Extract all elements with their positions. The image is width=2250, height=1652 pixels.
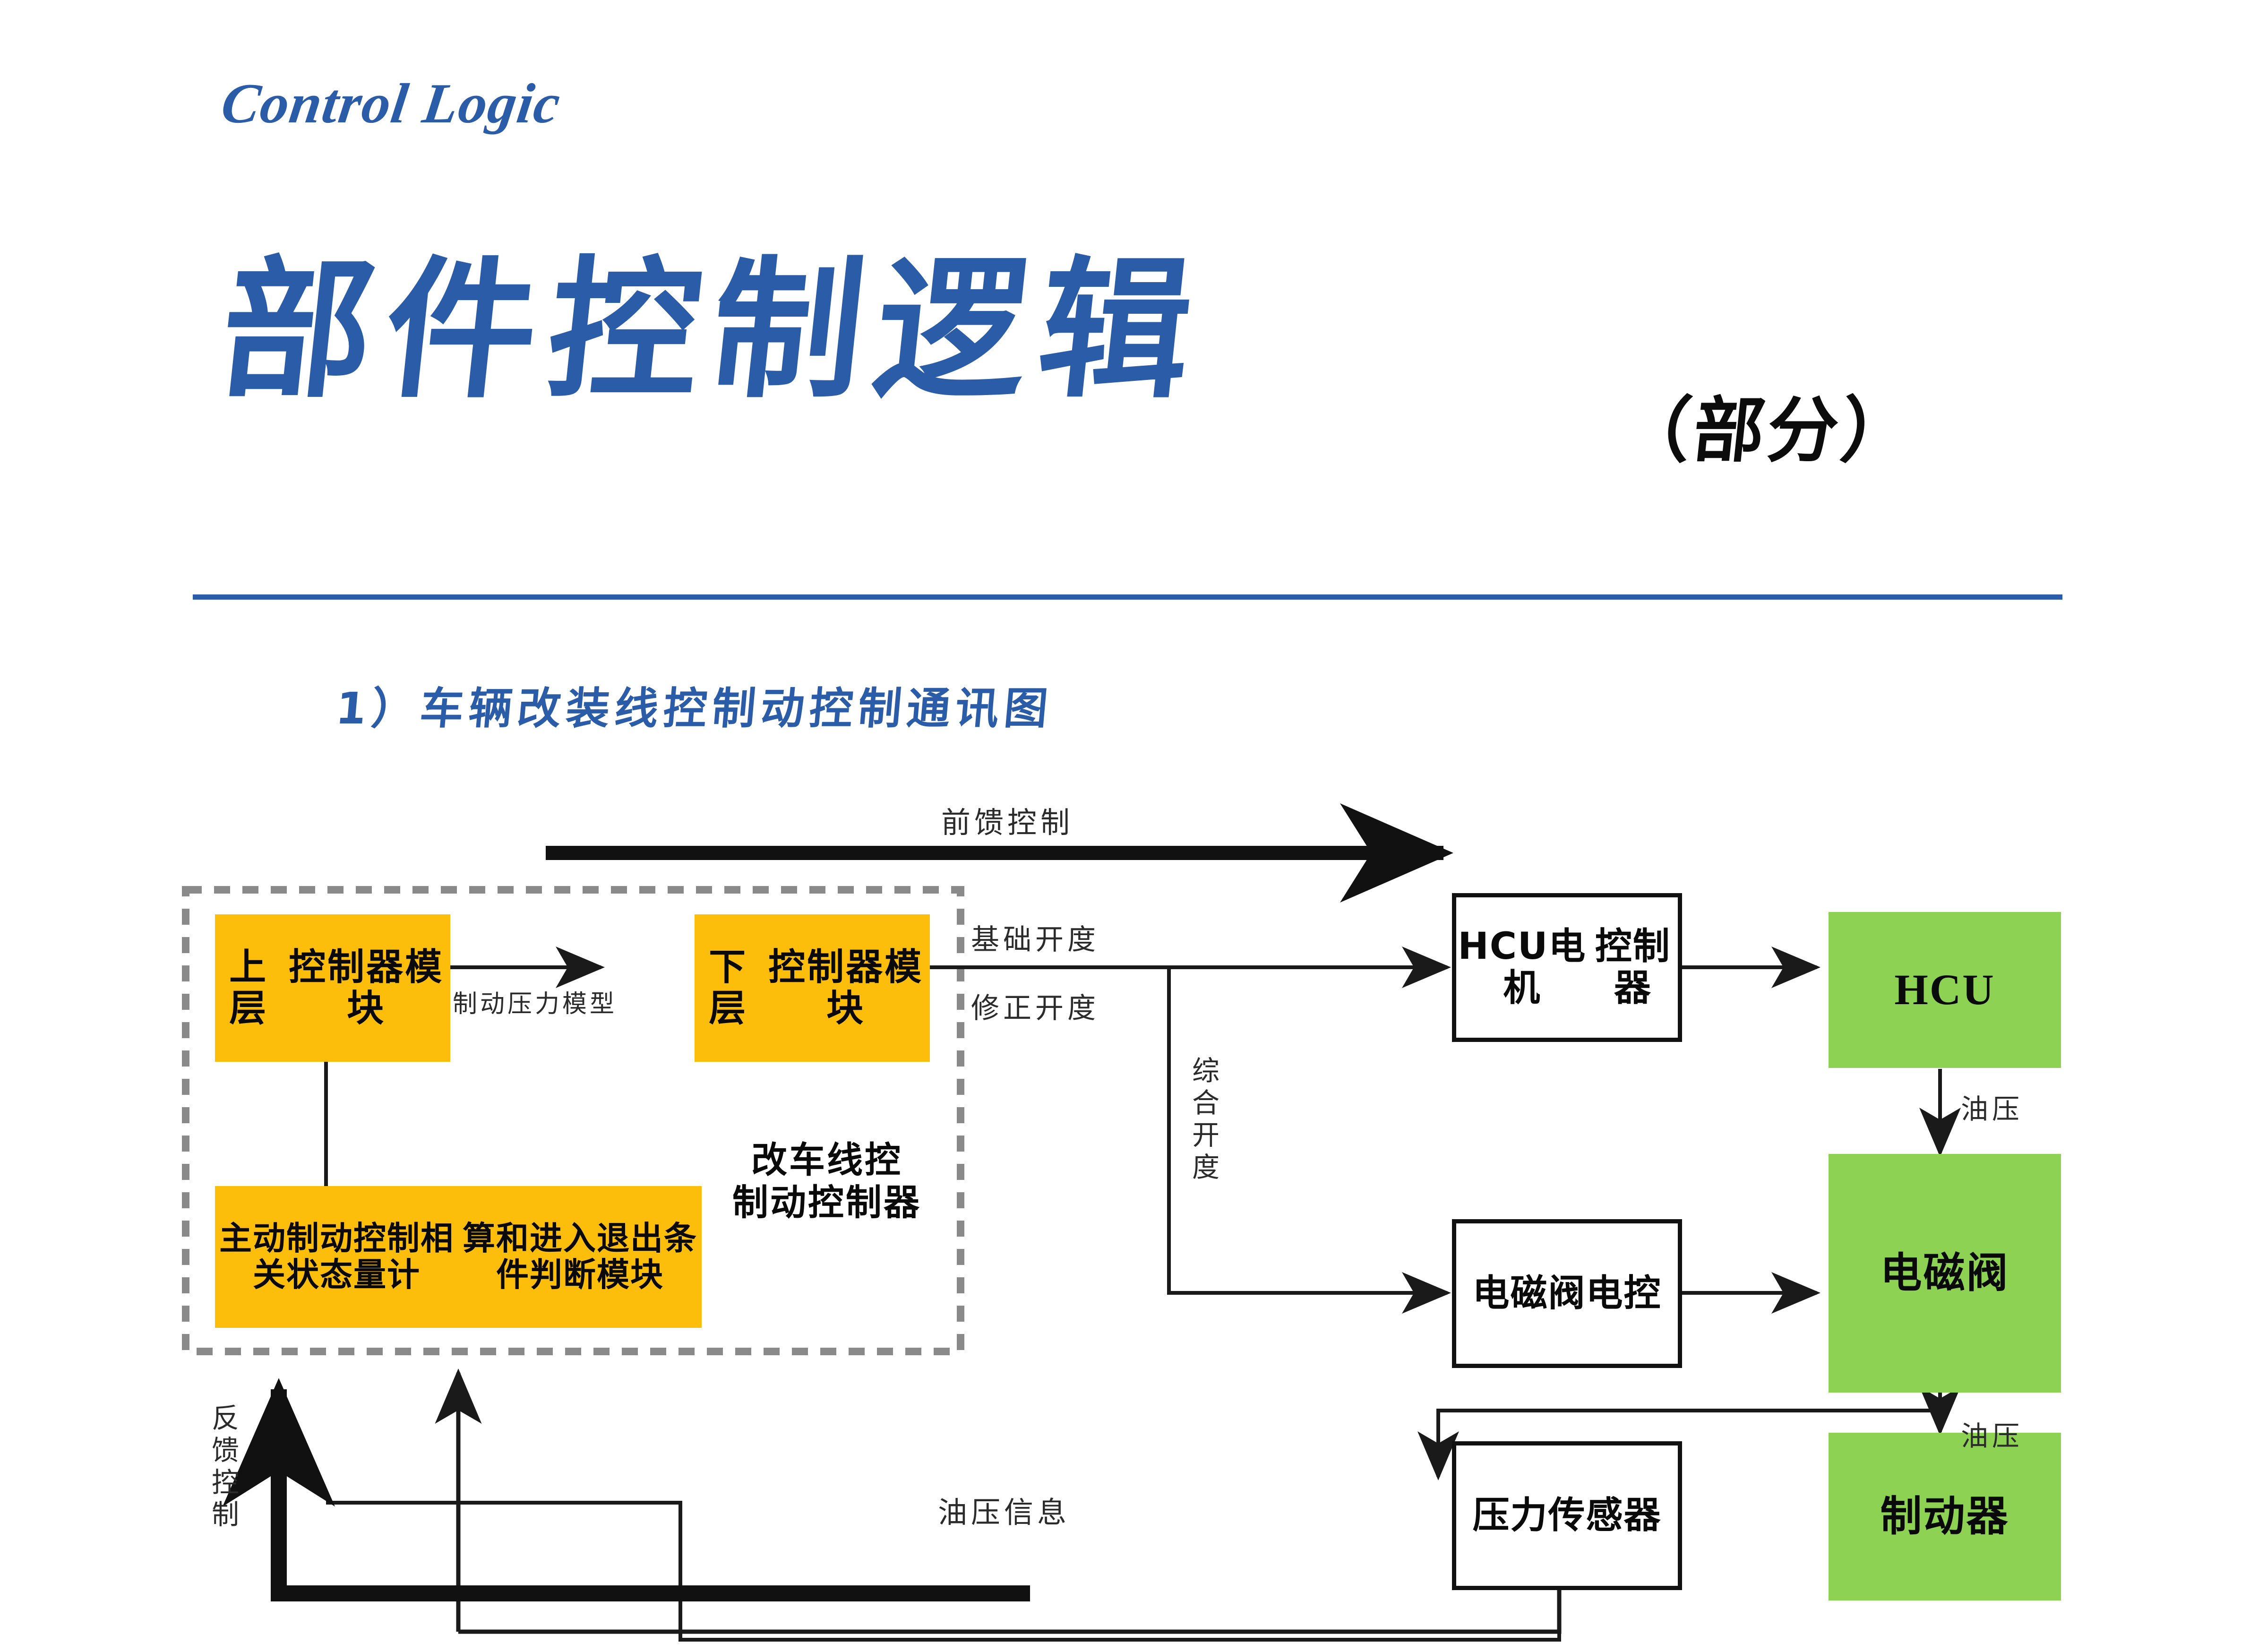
label-oil-pressure-info: 油压信息 [938, 1489, 1070, 1531]
box-brake[interactable]: 制动器 [1829, 1433, 2061, 1600]
label-brake-pressure-model: 制动压力模型 [453, 984, 617, 1019]
label-combined-opening: 综合开度 [1184, 1056, 1223, 1185]
control-logic-diagram: 上层控制器模块 下层控制器模块 主动制动控制相关状态量计算和进入退出条件判断模块… [0, 0, 2250, 1652]
label-feedforward: 前馈控制 [941, 799, 1073, 841]
feedback-control-arrow [279, 1389, 1030, 1593]
box-lower-controller[interactable]: 下层控制器模块 [695, 914, 930, 1062]
box-upper-controller[interactable]: 上层控制器模块 [215, 914, 450, 1062]
label-oil-pressure-2: 油压 [1961, 1414, 2023, 1454]
box-hcu[interactable]: HCU [1829, 912, 2061, 1068]
box-active-brake-module[interactable]: 主动制动控制相关状态量计算和进入退出条件判断模块 [215, 1186, 702, 1328]
box-pressure-sensor[interactable]: 压力传感器 [1452, 1441, 1682, 1590]
group-box-label: 改车线控制动控制器 [718, 1139, 936, 1223]
label-correction-opening: 修正开度 [971, 985, 1099, 1026]
label-oil-pressure-1: 油压 [1961, 1087, 2023, 1127]
box-hcu-motor-controller[interactable]: HCU电机控制器 [1452, 893, 1682, 1042]
label-feedback-control: 反馈控制 [203, 1403, 243, 1532]
diagram-connectors [0, 0, 2250, 1652]
box-solenoid-valve-ecu[interactable]: 电磁阀电控 [1452, 1219, 1682, 1368]
label-base-opening: 基础开度 [971, 917, 1099, 958]
box-solenoid-valve[interactable]: 电磁阀 [1829, 1154, 2061, 1393]
